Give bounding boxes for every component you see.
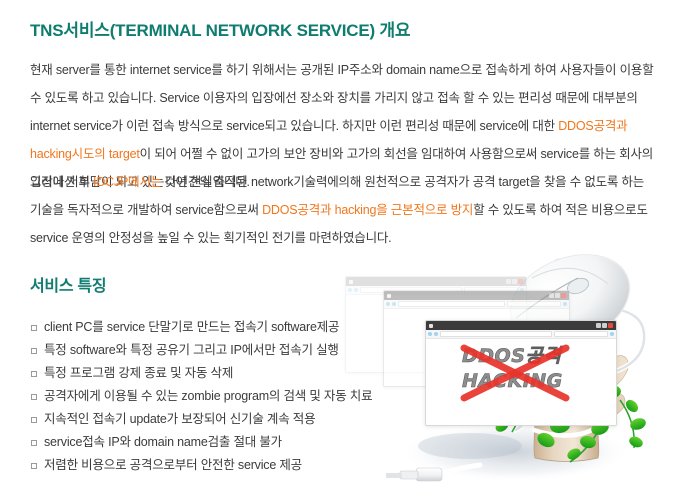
highlighted-text: IDCJP에서는	[93, 175, 162, 189]
window-controls[interactable]	[549, 293, 567, 298]
window-controls[interactable]	[596, 323, 614, 328]
square-bullet-icon	[31, 348, 37, 354]
window-icon	[349, 280, 353, 284]
close-icon[interactable]	[561, 293, 566, 298]
back-icon[interactable]	[386, 302, 390, 306]
maximize-icon[interactable]	[555, 293, 560, 298]
red-x-cross-icon	[456, 342, 574, 404]
maximize-icon[interactable]	[512, 279, 517, 284]
window-toolbar	[426, 330, 616, 339]
close-icon[interactable]	[608, 323, 613, 328]
window-titlebar	[384, 291, 569, 300]
feature-label: 저렴한 비용으로 공격으로부터 안전한 service 제공	[44, 458, 302, 472]
feature-label: 공격자에게 이용될 수 있는 zombie program의 검색 및 자동 치…	[44, 389, 372, 403]
feature-list-item: 저렴한 비용으로 공격으로부터 안전한 service 제공	[30, 454, 400, 477]
window-icon	[387, 294, 391, 298]
window-controls[interactable]	[506, 279, 524, 284]
feature-label: 지속적인 접속기 update가 보장되어 신기술 계속 적용	[44, 412, 315, 426]
minimize-icon[interactable]	[549, 293, 554, 298]
square-bullet-icon	[31, 325, 37, 331]
go-icon[interactable]	[610, 332, 614, 336]
feature-list-item: 특정 software와 특정 공유기 그리고 IP에서만 접속기 실행	[30, 339, 400, 362]
close-icon[interactable]	[518, 279, 523, 284]
address-bar[interactable]	[440, 331, 552, 337]
minimize-icon[interactable]	[506, 279, 511, 284]
square-bullet-icon	[31, 371, 37, 377]
feature-label: client PC를 service 단말기로 만드는 접속기 software…	[44, 320, 339, 334]
window-icon	[429, 324, 433, 328]
feature-list: client PC를 service 단말기로 만드는 접속기 software…	[30, 316, 400, 477]
slide-page: DDOS공격 HACKING TNS서비스(TERMINAL NETWORK S…	[0, 0, 680, 500]
maximize-icon[interactable]	[602, 323, 607, 328]
feature-label: 특정 프로그램 강제 종료 및 자동 삭제	[44, 366, 233, 380]
feature-label: 특정 software와 특정 공유기 그리고 IP에서만 접속기 실행	[44, 343, 339, 357]
square-bullet-icon	[31, 440, 37, 446]
search-box[interactable]	[554, 331, 608, 337]
square-bullet-icon	[31, 463, 37, 469]
solution-paragraph: 그러나 저희 IDCJP에서는 다년간의 축적된 network기술력에의해 원…	[30, 168, 655, 252]
page-title: TNS서비스(TERMINAL NETWORK SERVICE) 개요	[30, 16, 410, 41]
forward-icon[interactable]	[354, 288, 358, 292]
feature-list-item: 공격자에게 이용될 수 있는 zombie program의 검색 및 자동 치…	[30, 385, 400, 408]
body-text: 그러나 저희	[30, 175, 93, 189]
address-bar[interactable]	[398, 301, 505, 307]
ddos-hacking-stamp: DDOS공격 HACKING	[462, 344, 570, 402]
window-titlebar	[346, 277, 526, 286]
window-toolbar	[384, 300, 569, 309]
feature-label: service접속 IP와 domain name검출 절대 불가	[44, 435, 282, 449]
square-bullet-icon	[31, 417, 37, 423]
highlighted-text: DDOS공격과 hacking을 근본적으로 방지	[262, 203, 473, 217]
feature-list-item: 특정 프로그램 강제 종료 및 자동 삭제	[30, 362, 400, 385]
feature-list-item: client PC를 service 단말기로 만드는 접속기 software…	[30, 316, 400, 339]
square-bullet-icon	[31, 394, 37, 400]
feature-list-item: 지속적인 접속기 update가 보장되어 신기술 계속 적용	[30, 408, 400, 431]
section-title-features: 서비스 특징	[30, 272, 106, 296]
back-icon[interactable]	[348, 288, 352, 292]
window-titlebar	[426, 321, 616, 330]
back-icon[interactable]	[428, 332, 432, 336]
forward-icon[interactable]	[392, 302, 396, 306]
search-box[interactable]	[507, 301, 561, 307]
forward-icon[interactable]	[434, 332, 438, 336]
feature-list-item: service접속 IP와 domain name검출 절대 불가	[30, 431, 400, 454]
minimize-icon[interactable]	[596, 323, 601, 328]
go-icon[interactable]	[563, 302, 567, 306]
